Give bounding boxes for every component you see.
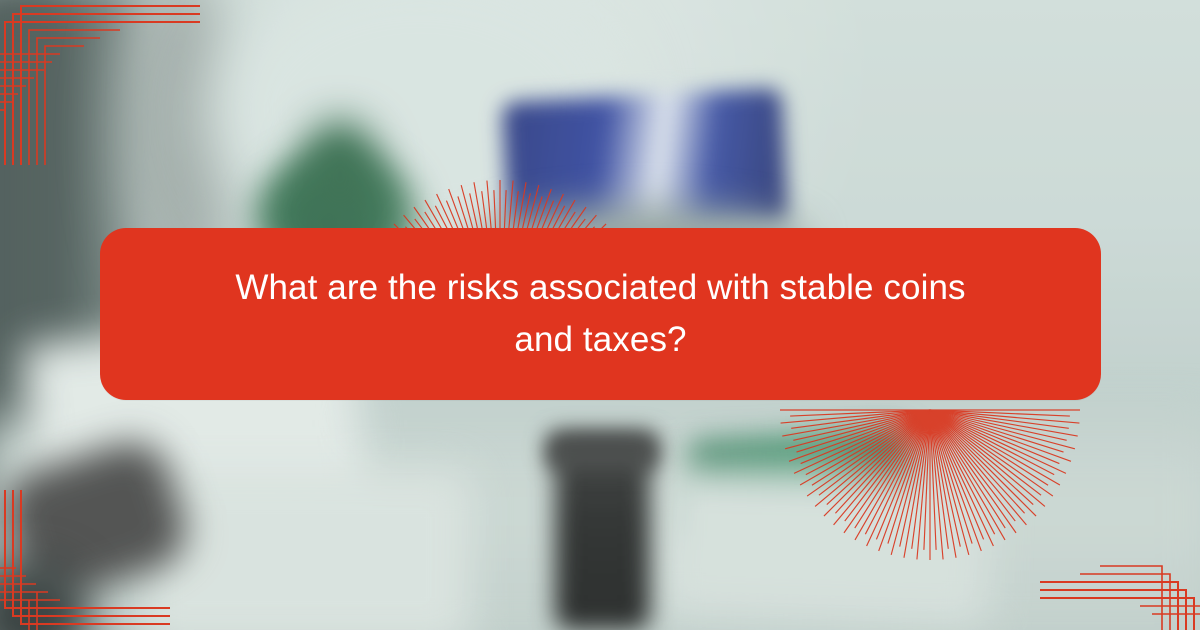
photo-blob-plant-stem (300, 120, 380, 230)
photo-blob-coffee-cup-lid (545, 430, 660, 470)
social-card-canvas: What are the risks associated with stabl… (0, 0, 1200, 630)
question-text: What are the risks associated with stabl… (197, 262, 1005, 367)
question-card: What are the risks associated with stabl… (100, 228, 1101, 400)
photo-blob-notebook (657, 464, 992, 625)
photo-blob-paper-bottom (140, 470, 470, 630)
